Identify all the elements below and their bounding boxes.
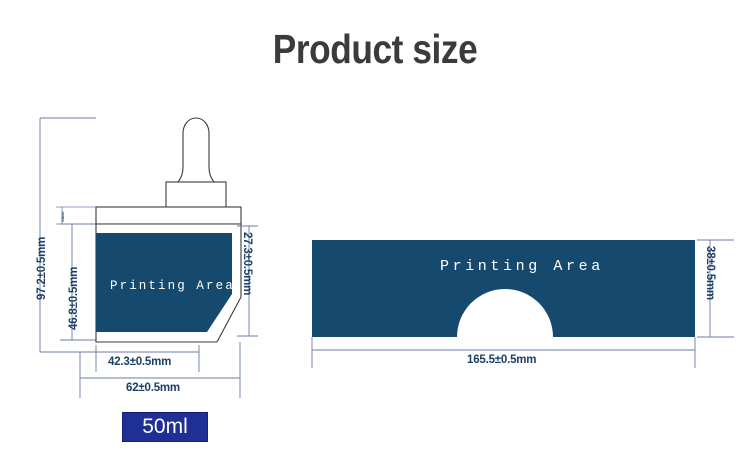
printing-area-label-left: Printing Area — [110, 279, 235, 293]
page-title: Product size — [53, 26, 698, 73]
product-size-spec-sheet: Product size — [0, 0, 750, 466]
printing-area-label-right: Printing Area — [440, 258, 604, 275]
dimension-label-total-height: 97.2±0.5mm — [36, 237, 48, 300]
dimension-label-body-height: 27.3±0.5mm — [241, 232, 253, 295]
capacity-badge: 50ml — [122, 412, 208, 442]
printing-area-right-view — [312, 240, 695, 337]
dimension-label-total-width: 62±0.5mm — [126, 382, 180, 394]
bottle-outline — [96, 118, 241, 342]
dimension-label-shoulder-band: 4.6mm — [61, 212, 65, 222]
dimension-label-label-height: 38±0.5mm — [704, 246, 716, 300]
dimension-label-printing-width: 42.3±0.5mm — [108, 356, 171, 368]
dimension-label-printing-height: 46.8±0.5mm — [68, 267, 80, 330]
dimension-label-label-width: 165.5±0.5mm — [467, 354, 536, 366]
